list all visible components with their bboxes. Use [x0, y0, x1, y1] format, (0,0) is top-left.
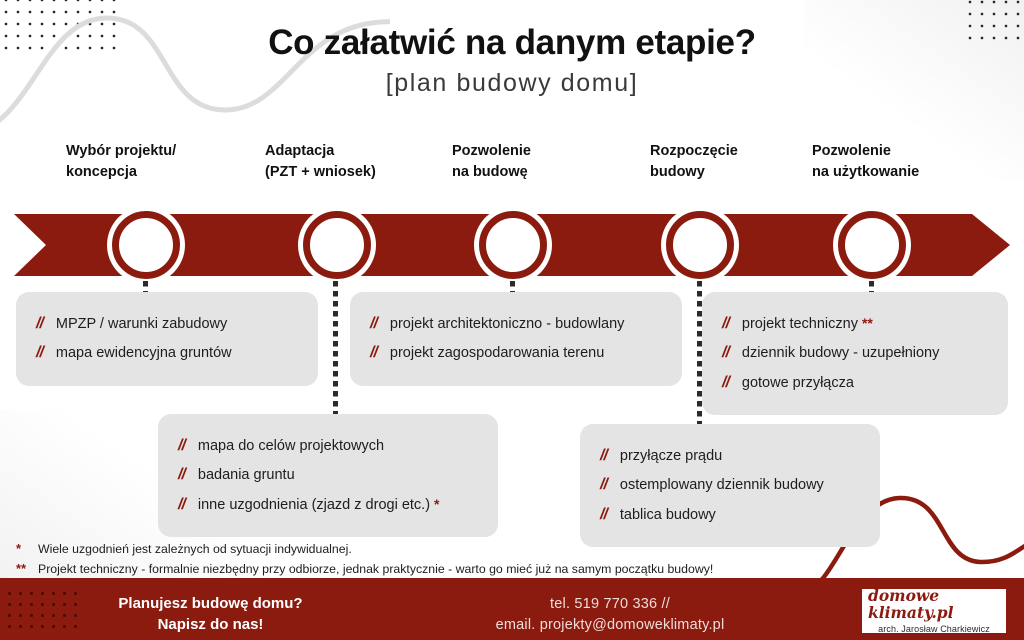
card-item-mark: ** — [862, 314, 873, 334]
card-item: // mapa do celów projektowych — [178, 435, 478, 457]
stage-label-2: Adaptacja (PZT + wniosek) — [265, 141, 450, 182]
slash-bullet-icon: // — [722, 313, 729, 335]
card-item: // projekt techniczny ** — [722, 313, 988, 335]
card-item-text: badania gruntu — [198, 465, 295, 485]
footnote-text: Projekt techniczny - formalnie niezbędny… — [38, 561, 713, 578]
card-item-text: ostemplowany dziennik budowy — [620, 475, 824, 495]
card-item-text: gotowe przyłącza — [742, 373, 854, 393]
slash-bullet-icon: // — [178, 435, 185, 457]
email-text[interactable]: email. projekty@domoweklimaty.pl — [380, 615, 840, 636]
slash-bullet-icon: // — [600, 504, 607, 526]
phone-text[interactable]: tel. 519 770 336 // — [380, 594, 840, 615]
page-subtitle: [plan budowy domu] — [0, 69, 1024, 98]
cta-line-1: Planujesz budowę domu? — [88, 593, 333, 614]
card-upper-2: // projekt architektoniczno - budowlany … — [350, 292, 682, 386]
slash-bullet-icon: // — [178, 494, 185, 516]
card-item: // mapa ewidencyjna gruntów — [36, 342, 298, 364]
card-item-mark: * — [434, 495, 439, 515]
slash-bullet-icon: // — [370, 342, 377, 364]
slash-bullet-icon: // — [722, 372, 729, 394]
card-item-text: inne uzgodnienia (zjazd z drogi etc.) — [198, 495, 430, 515]
card-item: // MPZP / warunki zabudowy — [36, 313, 298, 335]
stage-label-3: Pozwolenie na budowę — [452, 141, 632, 182]
cta-line-2: Napisz do nas! — [88, 614, 333, 635]
card-item: // przyłącze prądu — [600, 445, 860, 467]
card-item-text: projekt techniczny — [742, 314, 858, 334]
timeline-node-5[interactable] — [838, 211, 906, 279]
slash-bullet-icon: // — [36, 313, 43, 335]
stage-label-4: Rozpoczęcie budowy — [650, 141, 825, 182]
slash-bullet-icon: // — [600, 474, 607, 496]
slash-bullet-icon: // — [370, 313, 377, 335]
cta-text: Planujesz budowę domu? Napisz do nas! — [88, 593, 333, 636]
card-item-text: projekt architektoniczno - budowlany — [390, 314, 625, 334]
footnote-row: ** Projekt techniczny - formalnie niezbę… — [16, 561, 846, 578]
footnote-mark: ** — [16, 561, 38, 576]
timeline-node-4[interactable] — [666, 211, 734, 279]
timeline-node-3[interactable] — [479, 211, 547, 279]
footnote-mark: * — [16, 541, 38, 556]
connector-node-2 — [333, 281, 338, 431]
timeline-node-1[interactable] — [112, 211, 180, 279]
dot-grid-footer-icon — [4, 588, 80, 636]
card-item: // inne uzgodnienia (zjazd z drogi etc.)… — [178, 494, 478, 516]
header: Co załatwić na danym etapie? [plan budow… — [0, 22, 1024, 98]
timeline-node-2[interactable] — [303, 211, 371, 279]
stage-label-1: Wybór projektu/ koncepcja — [66, 141, 246, 182]
slash-bullet-icon: // — [36, 342, 43, 364]
card-item-text: dziennik budowy - uzupełniony — [742, 343, 940, 363]
card-item: // ostemplowany dziennik budowy — [600, 474, 860, 496]
card-item-text: mapa ewidencyjna gruntów — [56, 343, 232, 363]
footer-bar: Planujesz budowę domu? Napisz do nas! te… — [0, 582, 1024, 640]
slash-bullet-icon: // — [600, 445, 607, 467]
slash-bullet-icon: // — [722, 342, 729, 364]
contact-info: tel. 519 770 336 // email. projekty@domo… — [380, 594, 840, 636]
stage-label-5: Pozwolenie na użytkowanie — [812, 141, 1017, 182]
logo-author-text: arch. Jarosław Charkiewicz — [878, 624, 990, 634]
card-item-text: MPZP / warunki zabudowy — [56, 314, 227, 334]
page-title: Co załatwić na danym etapie? — [0, 22, 1024, 63]
card-item: // projekt architektoniczno - budowlany — [370, 313, 662, 335]
footnotes: * Wiele uzgodnień jest zależnych od sytu… — [16, 541, 846, 580]
card-item: // projekt zagospodarowania terenu — [370, 342, 662, 364]
logo[interactable]: domowe klimaty.pl arch. Jarosław Charkie… — [862, 589, 1006, 633]
card-lower-2: // przyłącze prądu // ostemplowany dzien… — [580, 424, 880, 547]
footnote-text: Wiele uzgodnień jest zależnych od sytuac… — [38, 541, 352, 558]
infographic-page: Co załatwić na danym etapie? [plan budow… — [0, 0, 1024, 640]
footnote-row: * Wiele uzgodnień jest zależnych od sytu… — [16, 541, 846, 558]
card-item-text: mapa do celów projektowych — [198, 436, 384, 456]
card-item: // badania gruntu — [178, 464, 478, 486]
slash-bullet-icon: // — [178, 464, 185, 486]
card-item: // gotowe przyłącza — [722, 372, 988, 394]
card-item: // dziennik budowy - uzupełniony — [722, 342, 988, 364]
card-upper-1: // MPZP / warunki zabudowy // mapa ewide… — [16, 292, 318, 386]
card-item: // tablica budowy — [600, 504, 860, 526]
card-upper-3: // projekt techniczny ** // dziennik bud… — [702, 292, 1008, 415]
card-lower-1: // mapa do celów projektowych // badania… — [158, 414, 498, 537]
card-item-text: projekt zagospodarowania terenu — [390, 343, 604, 363]
logo-brand-text: domowe klimaty.pl — [868, 588, 1000, 621]
card-item-text: przyłącze prądu — [620, 446, 722, 466]
card-item-text: tablica budowy — [620, 505, 716, 525]
